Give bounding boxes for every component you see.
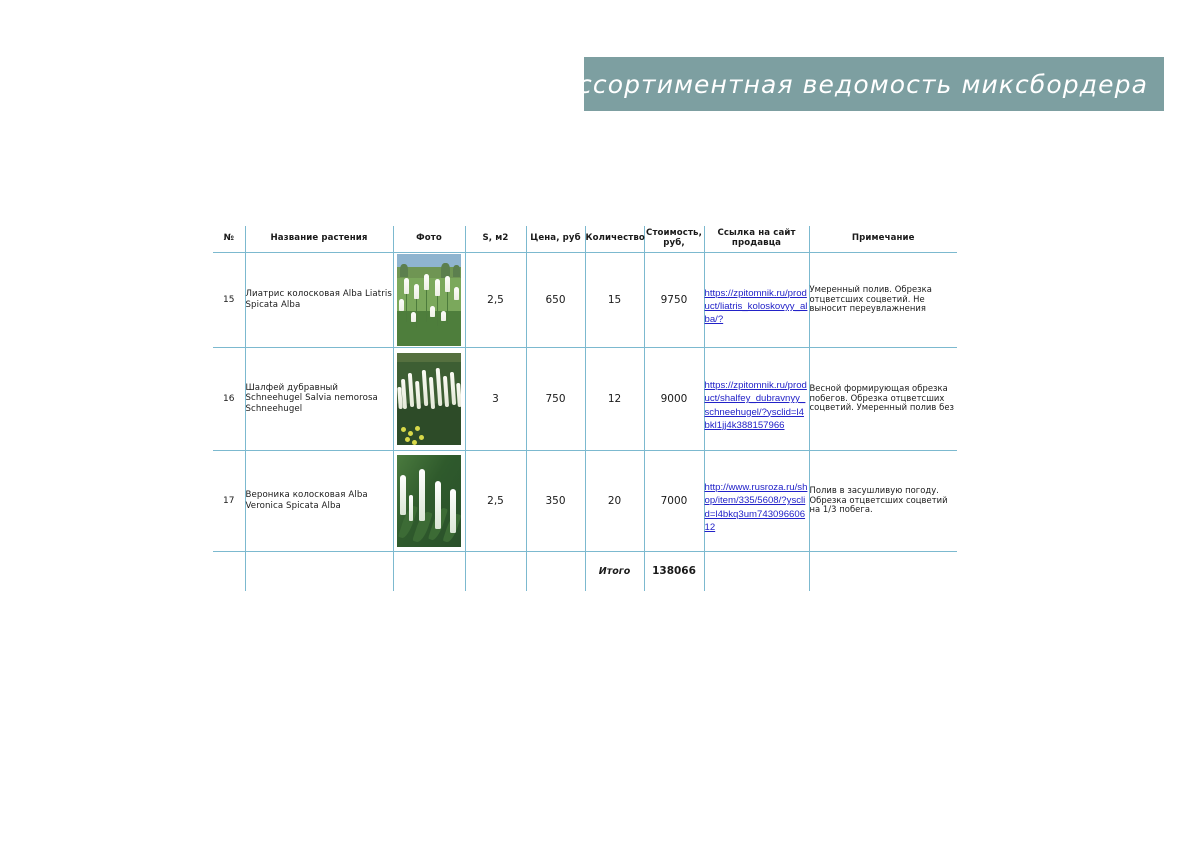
table-row: 16 Шалфей дубравный Schneehugel Salvia n… — [213, 347, 957, 450]
total-empty-price — [526, 551, 585, 591]
plant-quantity: 12 — [585, 347, 644, 450]
plant-photo-cell — [393, 347, 465, 450]
plant-quantity: 20 — [585, 450, 644, 551]
plant-note: Полив в засушливую погоду. Обрезка отцве… — [809, 450, 957, 551]
plant-area: 2,5 — [465, 450, 526, 551]
total-empty-note — [809, 551, 957, 591]
seller-link-cell[interactable]: https://zpitomnik.ru/product/liatris_kol… — [704, 252, 809, 347]
assortment-table-container: № Название растения Фото S, м2 Цена, руб… — [213, 226, 957, 591]
plant-cost: 9750 — [644, 252, 704, 347]
total-empty-photo — [393, 551, 465, 591]
total-empty-name — [245, 551, 393, 591]
row-number: 17 — [213, 450, 245, 551]
column-header-seller-link: Ссылка на сайт продавца — [704, 226, 809, 252]
seller-link[interactable]: https://zpitomnik.ru/product/liatris_kol… — [705, 287, 809, 327]
total-value: 138066 — [644, 551, 704, 591]
total-empty-area — [465, 551, 526, 591]
plant-area: 2,5 — [465, 252, 526, 347]
column-header-plant-name: Название растения — [245, 226, 393, 252]
plant-name: Лиатрис колосковая Alba Liatris Spicata … — [245, 252, 393, 347]
plant-price: 650 — [526, 252, 585, 347]
salvia-photo — [396, 352, 462, 446]
column-header-quantity: Количество — [585, 226, 644, 252]
plant-area: 3 — [465, 347, 526, 450]
table-row: 17 Вероника колосковая Alba Veronica Spi… — [213, 450, 957, 551]
seller-link-cell[interactable]: http://www.rusroza.ru/shop/item/335/5608… — [704, 450, 809, 551]
veronica-photo — [396, 454, 462, 548]
plant-price: 350 — [526, 450, 585, 551]
liatris-photo — [396, 253, 462, 347]
row-number: 15 — [213, 252, 245, 347]
plant-note: Умеренный полив. Обрезка отцветсших соцв… — [809, 252, 957, 347]
assortment-table: № Название растения Фото S, м2 Цена, руб… — [213, 226, 957, 591]
plant-name: Шалфей дубравный Schneehugel Salvia nemo… — [245, 347, 393, 450]
plant-cost: 7000 — [644, 450, 704, 551]
total-empty-number — [213, 551, 245, 591]
column-header-cost: Стоимость, руб, — [644, 226, 704, 252]
column-header-area: S, м2 — [465, 226, 526, 252]
plant-quantity: 15 — [585, 252, 644, 347]
table-total-row: Итого 138066 — [213, 551, 957, 591]
table-header-row: № Название растения Фото S, м2 Цена, руб… — [213, 226, 957, 252]
seller-link[interactable]: http://www.rusroza.ru/shop/item/335/5608… — [705, 481, 809, 534]
column-header-notes: Примечание — [809, 226, 957, 252]
column-header-photo: Фото — [393, 226, 465, 252]
document-title-bar: Ассортиментная ведомость миксбордера — [584, 57, 1164, 111]
total-label: Итого — [585, 551, 644, 591]
column-header-price: Цена, руб — [526, 226, 585, 252]
plant-cost: 9000 — [644, 347, 704, 450]
plant-note: Весной формирующая обрезка побегов. Обре… — [809, 347, 957, 450]
total-empty-link — [704, 551, 809, 591]
column-header-number: № — [213, 226, 245, 252]
page-title: Ассортиментная ведомость миксбордера — [560, 70, 1148, 99]
plant-photo-cell — [393, 450, 465, 551]
plant-name: Вероника колосковая Alba Veronica Spicat… — [245, 450, 393, 551]
seller-link[interactable]: https://zpitomnik.ru/product/shalfey_dub… — [705, 379, 809, 432]
plant-photo-cell — [393, 252, 465, 347]
seller-link-cell[interactable]: https://zpitomnik.ru/product/shalfey_dub… — [704, 347, 809, 450]
row-number: 16 — [213, 347, 245, 450]
plant-price: 750 — [526, 347, 585, 450]
table-row: 15 Лиатрис колосковая Alba Liatris Spica… — [213, 252, 957, 347]
